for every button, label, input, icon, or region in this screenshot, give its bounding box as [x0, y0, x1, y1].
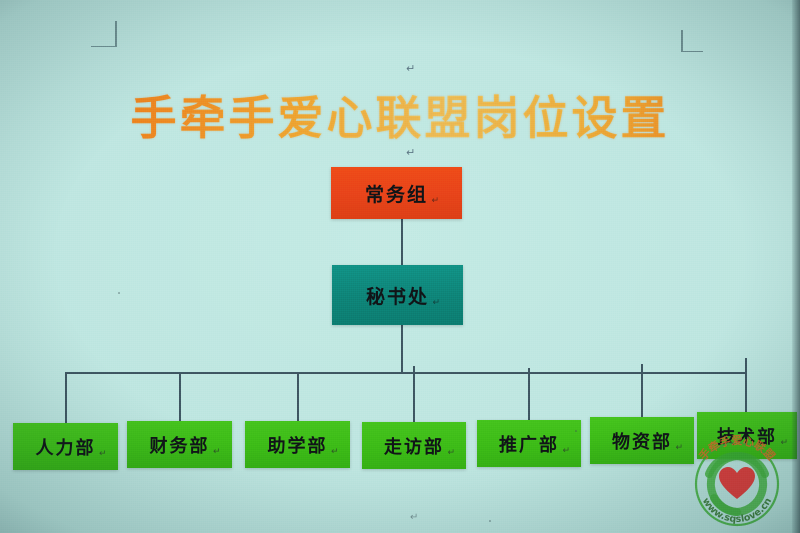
paragraph-return-mark-top: ↵ [406, 62, 415, 75]
dust-speck [575, 430, 577, 432]
org-node-materials-department[interactable]: 物资部↵ [590, 417, 694, 464]
edge-drop-4 [413, 366, 415, 423]
edge-drop-3 [297, 372, 299, 423]
photo-right-edge-shadow [792, 0, 800, 533]
corner-crop-mark-top-left [91, 21, 117, 47]
edge-drop-7 [745, 358, 747, 414]
edge-drop-2 [179, 372, 181, 423]
edge-exec-to-secretariat [401, 219, 403, 266]
org-node-education-aid-department[interactable]: 助学部↵ [245, 421, 350, 468]
org-node-secretariat[interactable]: 秘书处↵ [332, 265, 463, 325]
edge-drop-5 [528, 368, 530, 423]
org-node-label: 物资部 [612, 432, 672, 453]
dust-speck [489, 520, 491, 522]
edge-drop-1 [65, 372, 67, 423]
org-node-executive-group[interactable]: 常务组↵ [331, 167, 462, 219]
org-node-field-visit-department[interactable]: 走访部↵ [362, 422, 466, 469]
dust-speck [118, 292, 120, 294]
page-title: 手牵手爱心联盟岗位设置 [0, 82, 800, 148]
org-node-label: 助学部 [268, 436, 328, 457]
watermark-logo: 手牵手爱心联盟 www.sqslove.cn [684, 432, 790, 532]
org-node-label: 走访部 [384, 437, 444, 458]
org-node-hr-department[interactable]: 人力部↵ [13, 423, 118, 470]
edge-secretariat-trunk [401, 325, 403, 373]
org-node-label: 人力部 [36, 438, 96, 459]
edge-drop-6 [641, 364, 643, 419]
org-node-label: 财务部 [150, 436, 210, 457]
org-node-label: 推广部 [499, 435, 559, 456]
edge-horizontal-bus [65, 372, 746, 374]
corner-crop-mark-top-right [681, 30, 703, 52]
paragraph-return-mark-bottom: ↵ [410, 512, 418, 523]
org-node-label: 秘书处 [366, 286, 429, 308]
org-node-label: 常务组 [365, 184, 428, 206]
slide-photo: ↵ ↵ ↵ 手牵手爱心联盟岗位设置 常务组↵ 秘书处↵ 人力部↵ 财务部↵ 助学… [0, 0, 800, 533]
org-node-finance-department[interactable]: 财务部↵ [127, 421, 232, 468]
org-node-promotion-department[interactable]: 推广部↵ [477, 420, 581, 467]
